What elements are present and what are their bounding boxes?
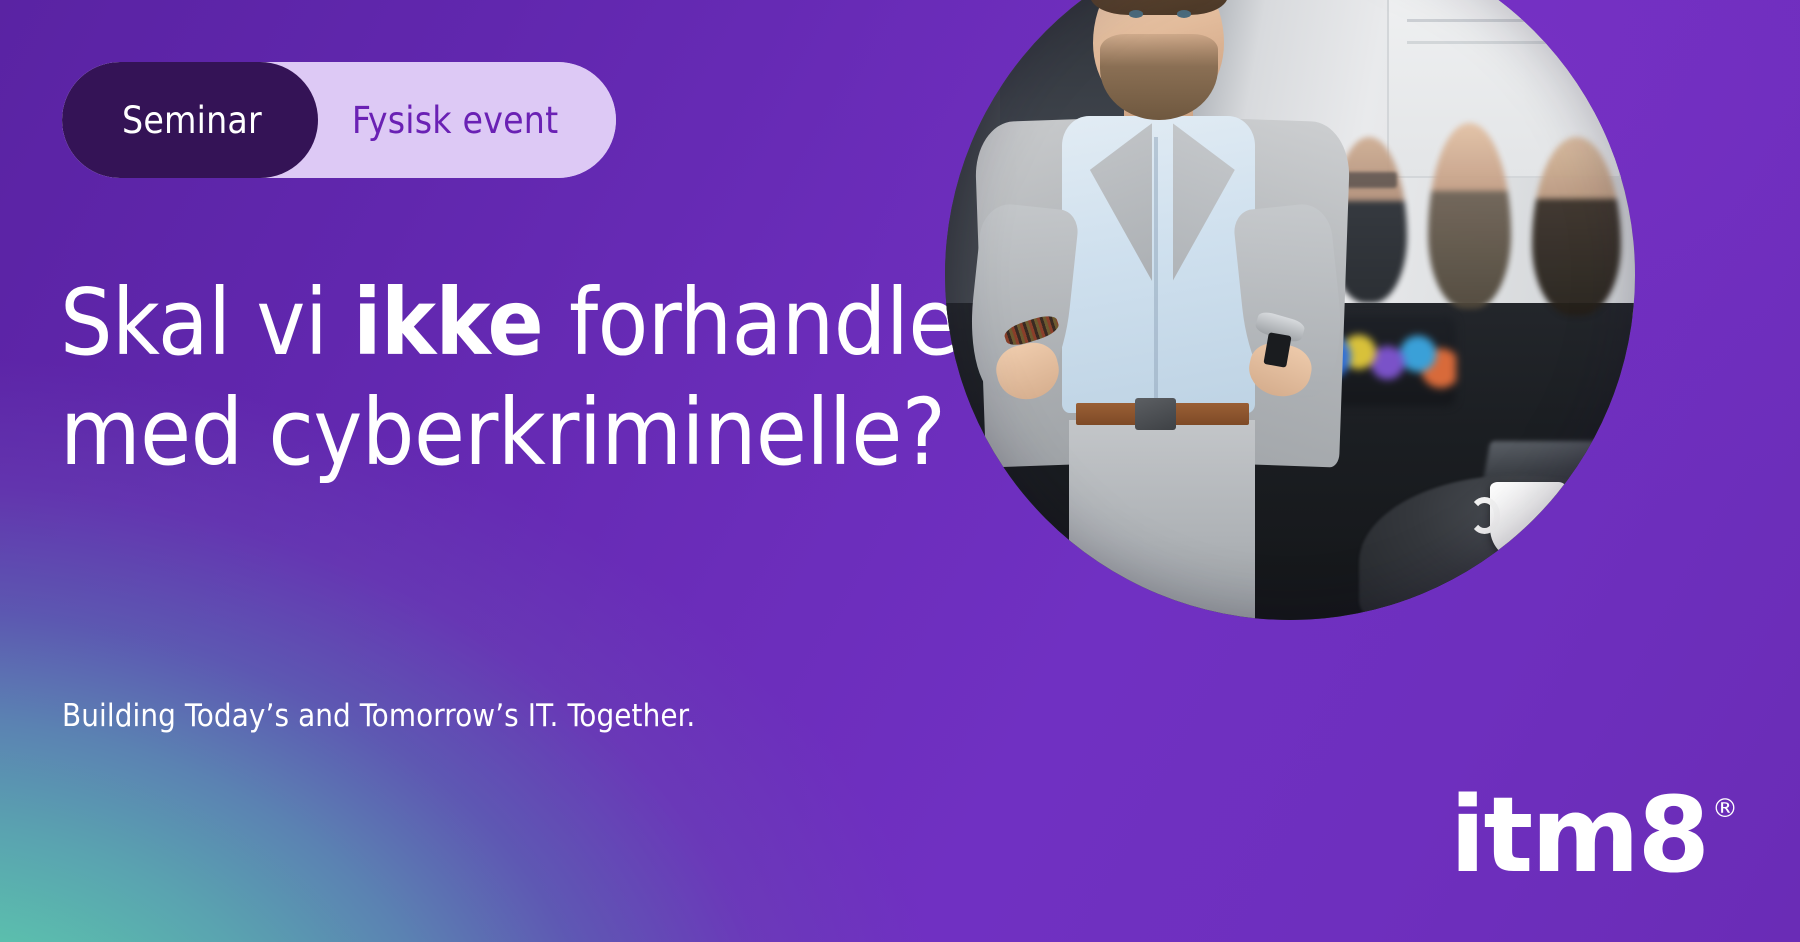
coffee-mug: [1490, 482, 1566, 558]
headline-line-1-before: Skal vi: [60, 269, 353, 376]
itm8-logo: itm8 ®: [1450, 788, 1738, 884]
registered-trademark-icon: ®: [1712, 796, 1738, 822]
logo-wordmark: itm8: [1450, 788, 1708, 884]
headline-emphasis-ikke: ikke: [353, 269, 543, 376]
speaker-shirt: [1062, 116, 1255, 413]
speaker-shirt-placket: [1154, 137, 1158, 399]
pill-segment-seminar[interactable]: Seminar: [62, 62, 318, 178]
speaker-belt-buckle: [1135, 398, 1176, 430]
speaker-eye-right: [1177, 10, 1191, 18]
brand-tagline: Building Today’s and Tomorrow’s IT. Toge…: [62, 698, 695, 735]
speaker-eye-left: [1129, 10, 1143, 18]
photo-scene: [945, 0, 1635, 620]
audience-glasses: [1342, 172, 1397, 189]
speaker-photo: [945, 0, 1635, 620]
coffee-mug-handle: [1469, 497, 1501, 534]
speaker-hair: [1090, 0, 1228, 15]
headline-line-1: Skal vi ikke forhandle: [60, 268, 1020, 378]
headline: Skal vi ikke forhandle med cyberkriminel…: [60, 268, 1020, 489]
pill-segment-fysisk-event[interactable]: Fysisk event: [294, 62, 616, 178]
speaker-trousers: [1069, 420, 1255, 620]
headline-line-1-after: forhandle: [543, 269, 959, 376]
event-promo-banner: Seminar Fysisk event Skal vi ikke forhan…: [0, 0, 1800, 942]
event-type-pill: Seminar Fysisk event: [62, 62, 616, 178]
headline-line-2: med cyberkriminelle?: [60, 378, 1020, 488]
